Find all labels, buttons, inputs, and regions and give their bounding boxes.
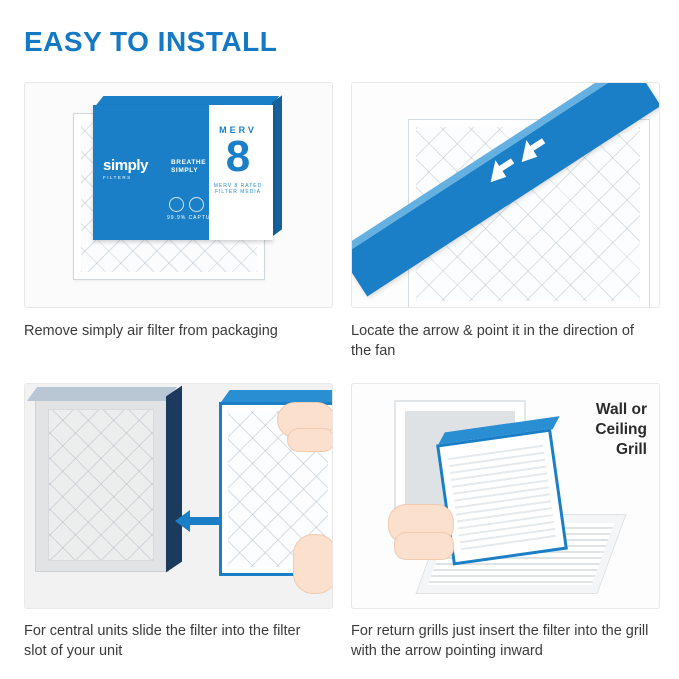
label-line-2: Ceiling xyxy=(595,420,647,440)
box-right-edge xyxy=(272,95,282,236)
step-3-scene xyxy=(25,384,332,608)
capture-caption: 99.9% CAPTURE xyxy=(167,215,219,221)
unit-filter-slot xyxy=(48,409,154,561)
feature-circle-icon xyxy=(169,197,184,212)
unit-side-panel xyxy=(166,386,182,573)
feature-icon-row xyxy=(169,197,244,212)
merv-subtext: MERV 8 RATED FILTER MEDIA xyxy=(209,183,267,195)
brand-name: simply xyxy=(103,157,148,174)
arrow-left-icon xyxy=(175,508,219,534)
tagline-line-2: SIMPLY xyxy=(171,167,206,175)
step-1-caption: Remove simply air filter from packaging xyxy=(24,321,324,341)
hand-fingers-graphic xyxy=(287,428,333,452)
air-filter-graphic xyxy=(436,429,568,566)
step-2-panel xyxy=(351,82,660,308)
label-line-3: Grill xyxy=(595,440,647,460)
merv-rating-block: MERV 8 MERV 8 RATED FILTER MEDIA xyxy=(209,125,267,195)
step-2-caption: Locate the arrow & point it in the direc… xyxy=(351,321,651,361)
feature-circle-icon xyxy=(189,197,204,212)
steps-row-bottom: For central units slide the filter into … xyxy=(24,383,658,661)
step-4-cell: Wall or Ceiling Grill For return grills … xyxy=(351,383,658,661)
step-1-cell: MERV 8 MERV 8 RATED FILTER MEDIA simply … xyxy=(24,82,331,361)
tagline-line-1: BREATHE xyxy=(171,159,206,167)
insert-direction-arrow xyxy=(175,508,219,539)
feature-circle-icon xyxy=(229,197,244,212)
steps-row-top: MERV 8 MERV 8 RATED FILTER MEDIA simply … xyxy=(24,82,658,361)
feature-circle-icon xyxy=(209,197,224,212)
steps-grid: MERV 8 MERV 8 RATED FILTER MEDIA simply … xyxy=(24,82,658,661)
hand-lower-graphic xyxy=(293,534,333,594)
step-2-cell: Locate the arrow & point it in the direc… xyxy=(351,82,658,361)
step-3-cell: For central units slide the filter into … xyxy=(24,383,331,661)
step-4-panel: Wall or Ceiling Grill xyxy=(351,383,660,609)
step-3-caption: For central units slide the filter into … xyxy=(24,621,324,661)
filter-louvers xyxy=(447,440,556,554)
merv-number: 8 xyxy=(209,135,267,179)
hand-fingers-graphic xyxy=(394,532,454,560)
step-3-panel xyxy=(24,383,333,609)
unit-top-band xyxy=(27,387,177,401)
brand-tagline: BREATHE SIMPLY xyxy=(171,159,206,175)
wall-ceiling-grill-label: Wall or Ceiling Grill xyxy=(595,400,647,460)
easy-to-install-infographic: EASY TO INSTALL MERV xyxy=(0,0,679,679)
filter-front-face xyxy=(436,429,568,566)
box-front-face: MERV 8 MERV 8 RATED FILTER MEDIA simply … xyxy=(93,105,273,240)
product-box-graphic: MERV 8 MERV 8 RATED FILTER MEDIA simply … xyxy=(93,105,273,240)
step-1-panel: MERV 8 MERV 8 RATED FILTER MEDIA simply … xyxy=(24,82,333,308)
brand-name-sub: FILTERS xyxy=(103,175,148,180)
step-4-caption: For return grills just insert the filter… xyxy=(351,621,651,661)
hvac-unit-graphic xyxy=(35,398,169,572)
page-title: EASY TO INSTALL xyxy=(24,26,277,58)
brand-logo: simply FILTERS xyxy=(103,157,148,180)
label-line-1: Wall or xyxy=(595,400,647,420)
